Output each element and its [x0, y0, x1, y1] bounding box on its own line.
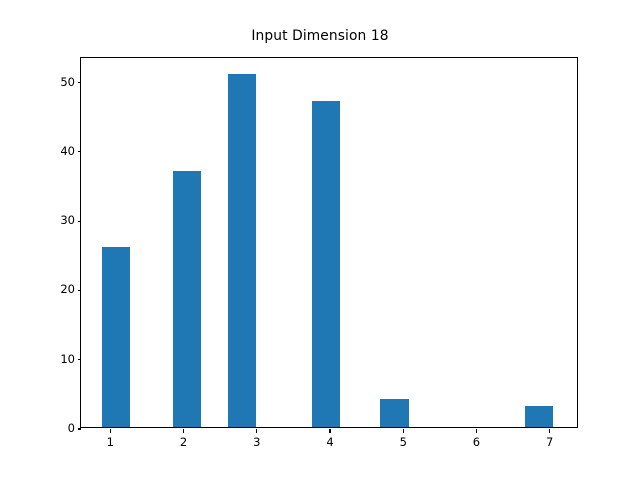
y-tick-label: 40 — [60, 144, 75, 158]
y-tick-label: 10 — [60, 352, 75, 366]
x-tick-label: 6 — [456, 435, 496, 449]
x-tick-mark — [110, 429, 111, 433]
y-tick-label: 30 — [60, 213, 75, 227]
matplotlib-figure: Input Dimension 18 01020304050 1234567 — [0, 0, 640, 480]
x-tick-mark — [403, 429, 404, 433]
plot-axes: 01020304050 1234567 — [80, 57, 578, 428]
x-tick-mark — [329, 429, 330, 433]
y-tick-label: 20 — [60, 282, 75, 296]
x-tick-label: 4 — [310, 435, 350, 449]
x-tick-label: 2 — [164, 435, 204, 449]
bar — [525, 406, 553, 427]
bar — [228, 74, 256, 427]
x-tick-mark — [183, 429, 184, 433]
x-tick-mark — [256, 429, 257, 433]
y-tick-mark — [78, 428, 82, 429]
x-tick-label: 5 — [383, 435, 423, 449]
bar — [312, 101, 340, 427]
y-tick-label: 0 — [68, 421, 75, 435]
bars-container — [81, 58, 577, 427]
x-tick-mark — [549, 429, 550, 433]
x-tick-mark — [476, 429, 477, 433]
y-tick-label: 50 — [60, 75, 75, 89]
x-tick-label: 7 — [530, 435, 570, 449]
bar — [102, 247, 130, 427]
chart-title: Input Dimension 18 — [0, 28, 640, 44]
bar — [380, 399, 408, 427]
x-tick-label: 1 — [90, 435, 130, 449]
bar — [173, 171, 201, 427]
x-tick-label: 3 — [237, 435, 277, 449]
